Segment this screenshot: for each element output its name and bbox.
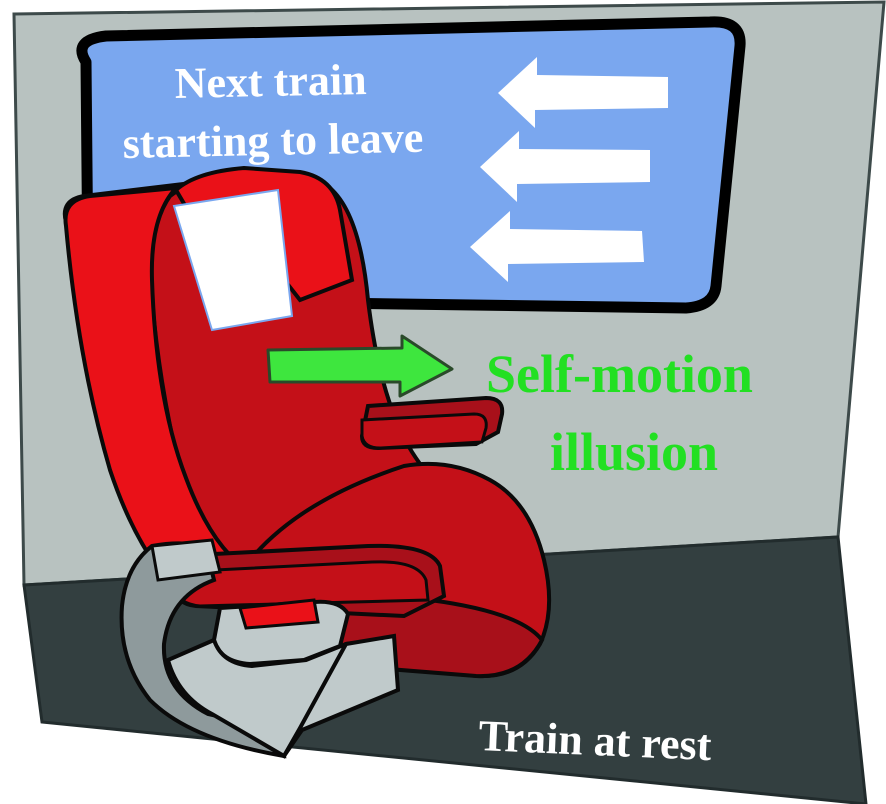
floor-label: Train at rest bbox=[478, 711, 713, 770]
floor-label-text: Train at rest bbox=[478, 711, 713, 770]
illustration-scene: Next train starting to leave bbox=[0, 0, 886, 804]
sign-line-1: Next train bbox=[174, 55, 367, 108]
illusion-line-2: illusion bbox=[550, 422, 718, 482]
illusion-line-1: Self-motion bbox=[486, 344, 753, 404]
seat-armrest-upper bbox=[362, 398, 502, 448]
sign-line-2: starting to leave bbox=[122, 113, 424, 168]
